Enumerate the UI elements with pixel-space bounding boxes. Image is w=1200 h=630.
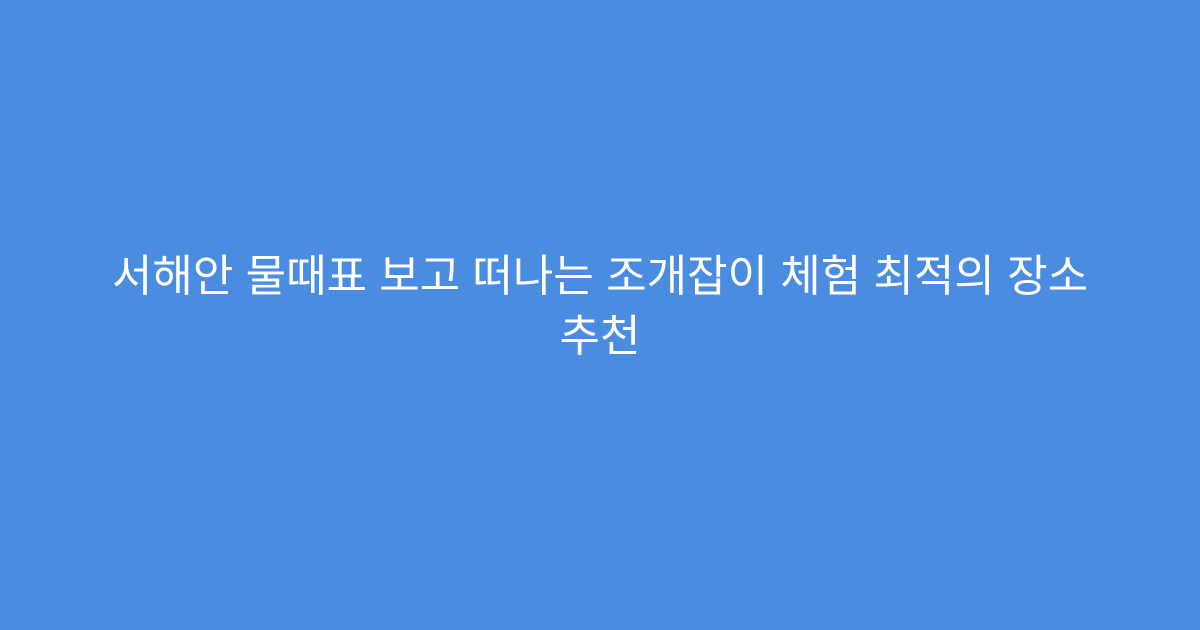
page-title: 서해안 물때표 보고 떠나는 조개잡이 체험 최적의 장소 추천: [76, 247, 1124, 367]
title-block: 서해안 물때표 보고 떠나는 조개잡이 체험 최적의 장소 추천: [0, 247, 1200, 367]
og-card-canvas: 서해안 물때표 보고 떠나는 조개잡이 체험 최적의 장소 추천: [0, 0, 1200, 630]
